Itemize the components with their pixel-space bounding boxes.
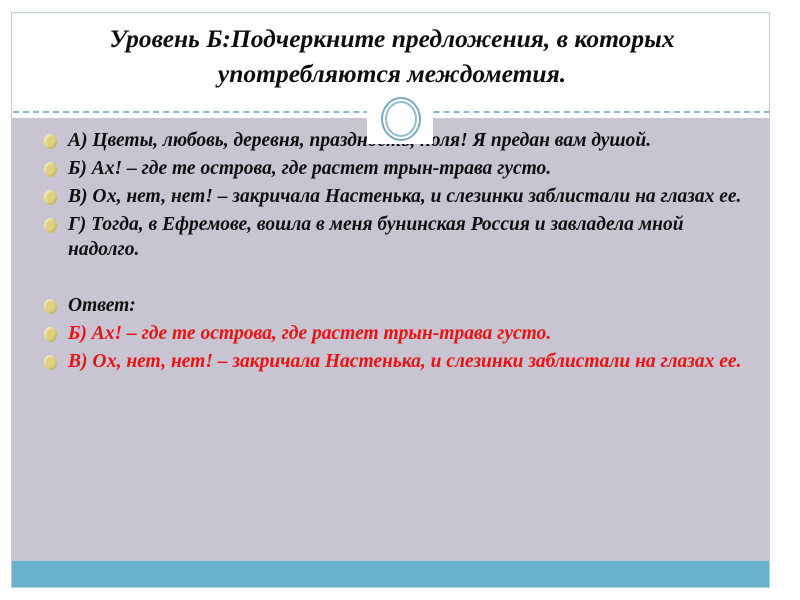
blank-spacer-row	[32, 265, 750, 293]
answer-text: Б) Ах! – где те острова, где растет трын…	[68, 323, 551, 344]
answer-label-item: Ответ:	[32, 293, 750, 318]
list-item: В) Ох, нет, нет! – закричала Настенька, …	[32, 184, 750, 209]
list-item-text: А) Цветы, любовь, деревня, праздность, п…	[68, 130, 651, 151]
answer-item: Б) Ах! – где те острова, где растет трын…	[32, 321, 750, 346]
bullet-dot-icon	[44, 355, 57, 370]
list-item-text: Б) Ах! – где те острова, где растет трын…	[68, 158, 551, 179]
answer-label-text: Ответ:	[68, 295, 136, 316]
page-title: Уровень Б:Подчеркните предложения, в кот…	[36, 21, 748, 91]
bullet-dot-icon	[44, 299, 57, 314]
title-area: Уровень Б:Подчеркните предложения, в кот…	[12, 13, 769, 111]
slide: Уровень Б:Подчеркните предложения, в кот…	[11, 12, 770, 588]
list-item-text: Г) Тогда, в Ефремове, вошла в меня бунин…	[68, 214, 684, 260]
body-area: А) Цветы, любовь, деревня, праздность, п…	[12, 118, 769, 561]
bullet-list: А) Цветы, любовь, деревня, праздность, п…	[32, 128, 750, 377]
list-item-text: В) Ох, нет, нет! – закричала Настенька, …	[68, 186, 741, 207]
answer-item: В) Ох, нет, нет! – закричала Настенька, …	[32, 349, 750, 374]
list-item: Б) Ах! – где те острова, где растет трын…	[32, 156, 750, 181]
bullet-dot-icon	[44, 190, 57, 205]
bullet-dot-icon	[44, 218, 57, 233]
list-item: Г) Тогда, в Ефремове, вошла в меня бунин…	[32, 212, 750, 262]
answer-text: В) Ох, нет, нет! – закричала Настенька, …	[68, 351, 741, 372]
bullet-dot-icon	[44, 134, 57, 149]
bullet-dot-icon	[44, 162, 57, 177]
decorative-circle-inner-icon	[385, 101, 417, 137]
bullet-dot-icon	[44, 327, 57, 342]
bottom-accent-band	[12, 561, 769, 588]
